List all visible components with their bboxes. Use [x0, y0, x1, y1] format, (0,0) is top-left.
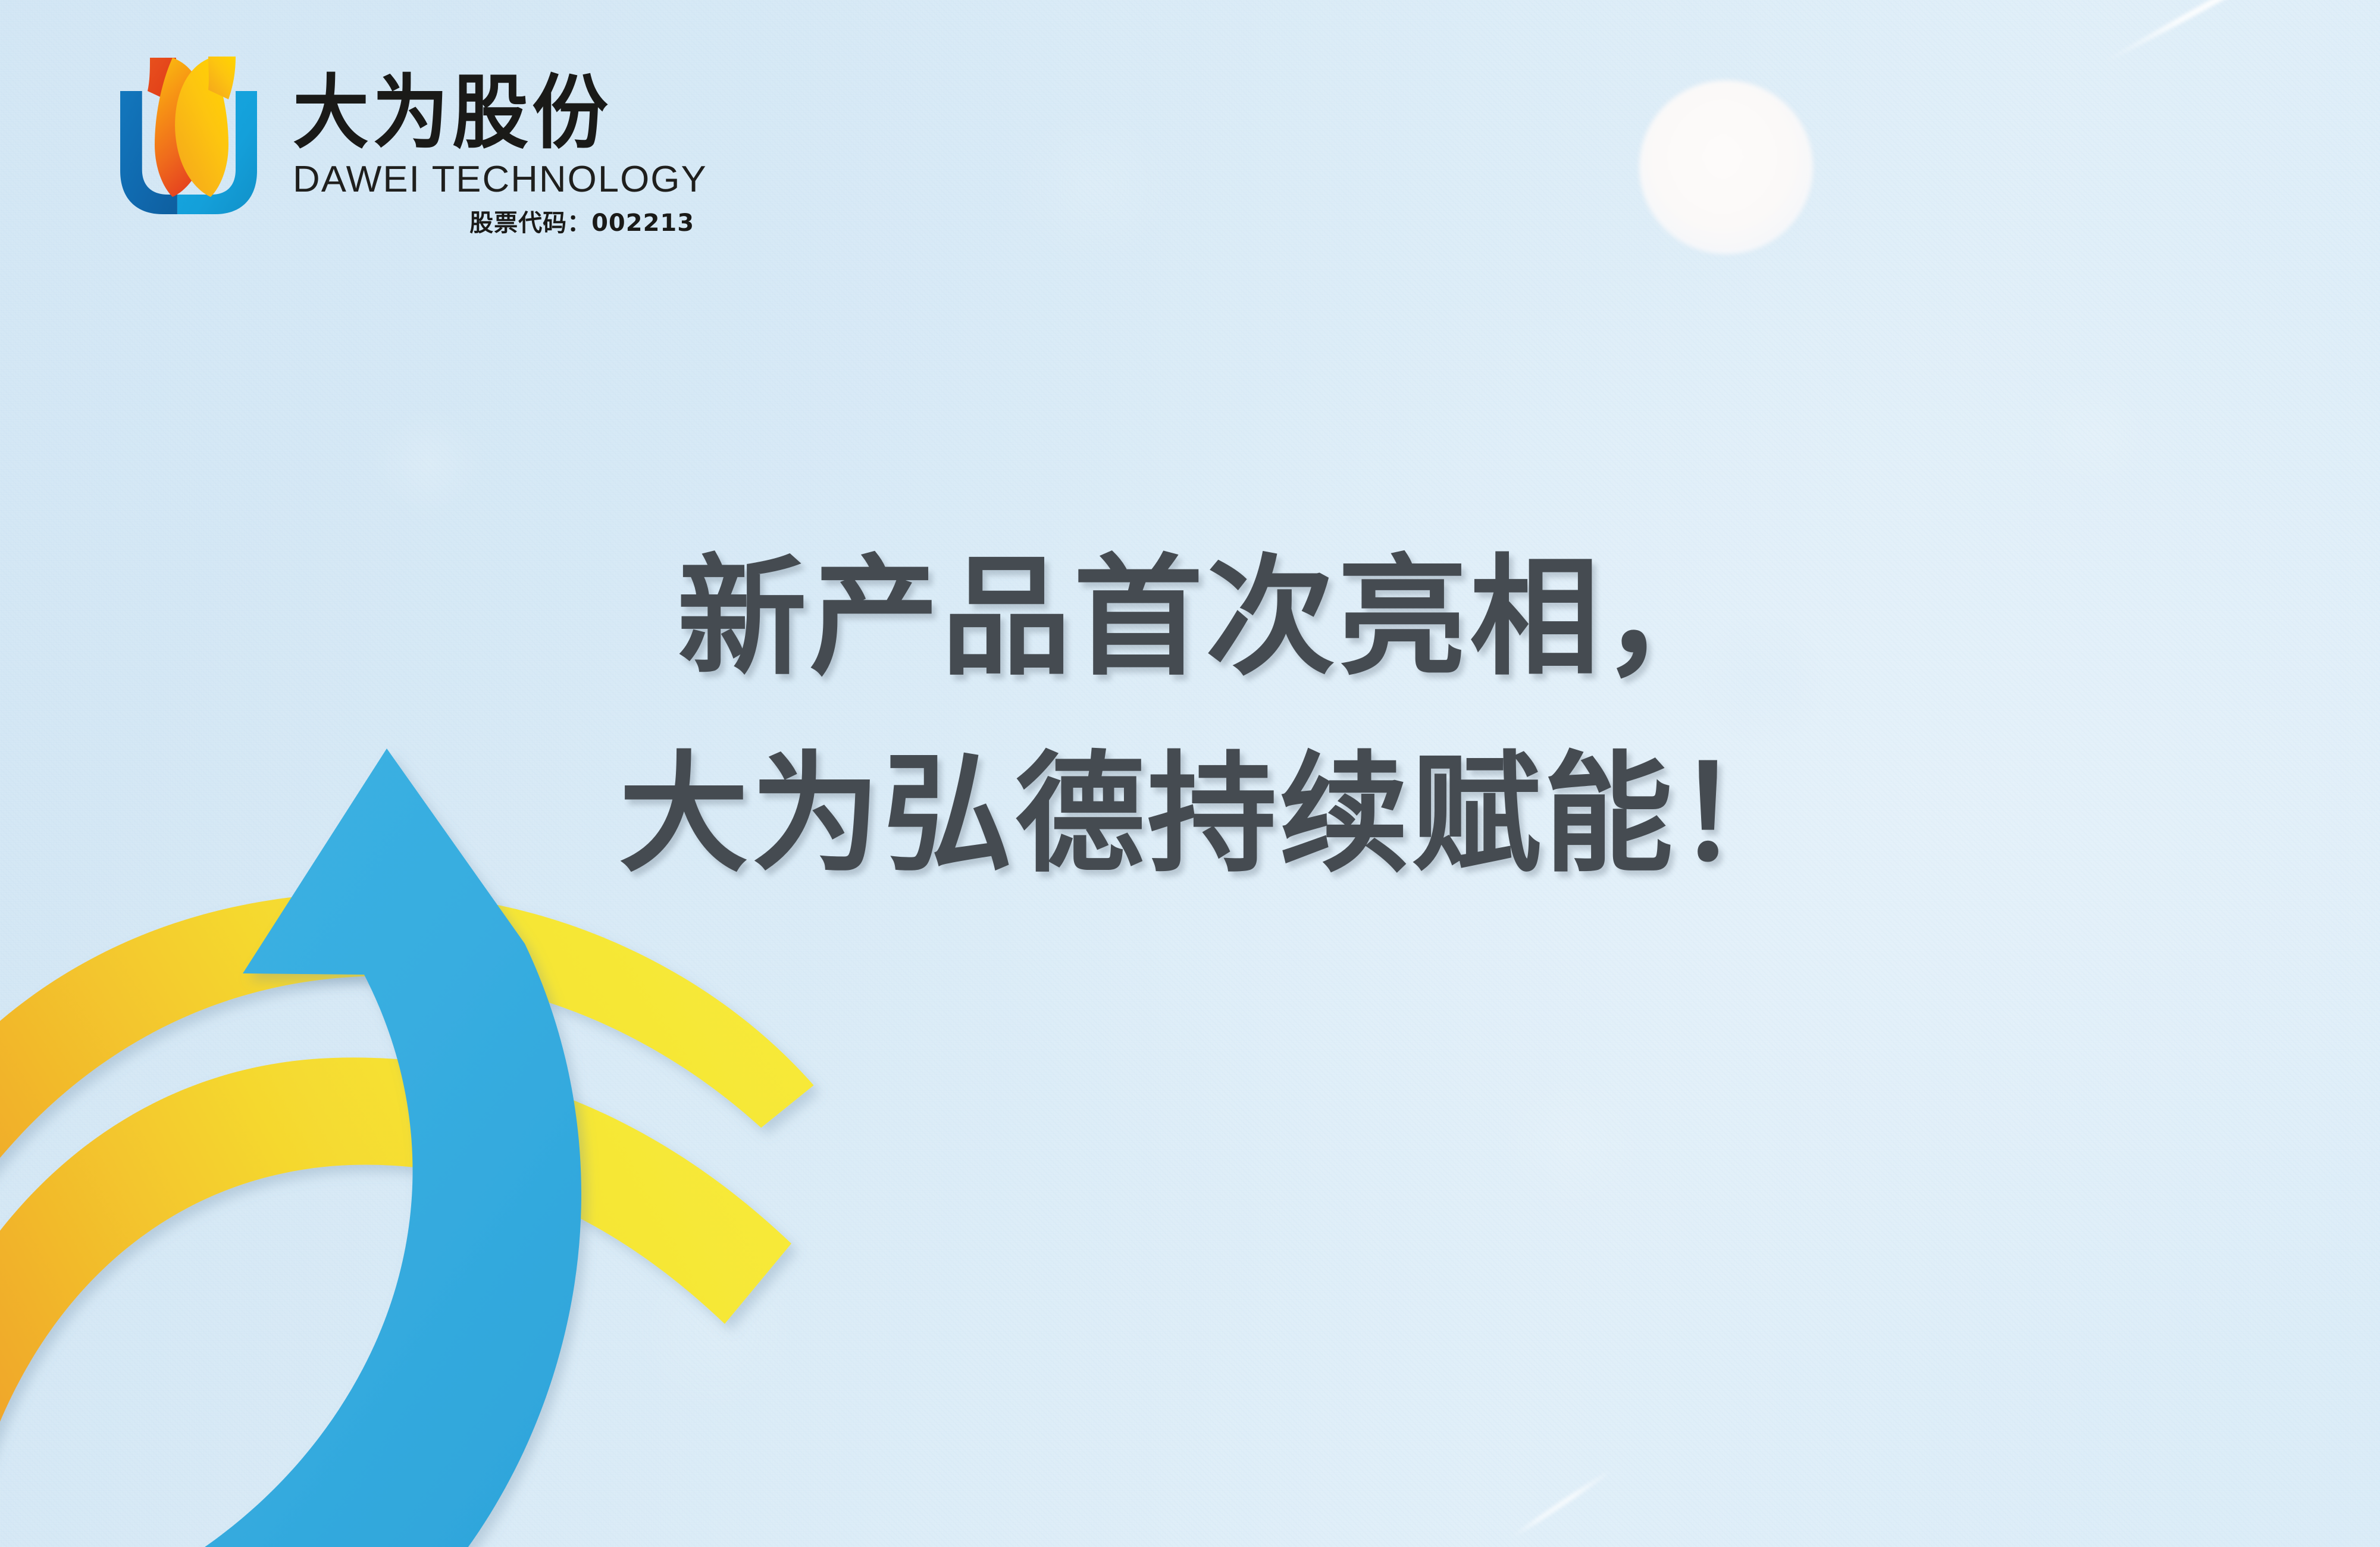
stock-code-label: 股票代码：002213 — [469, 211, 699, 235]
brand-logo[interactable]: 大为股份 DAWEI TECHNOLOGY 股票代码：002213 — [119, 45, 699, 235]
headline-line-2: 大为弘德持续赋能！ — [619, 750, 1916, 880]
brand-name-cn: 大为股份 — [293, 73, 612, 154]
brand-name-en: DAWEI TECHNOLOGY — [293, 161, 707, 198]
soft-white-circle-icon — [1639, 80, 1813, 254]
promo-banner: 大为股份 DAWEI TECHNOLOGY 股票代码：002213 新产品首次亮… — [0, 0, 2380, 1547]
brand-text-block: 大为股份 DAWEI TECHNOLOGY 股票代码：002213 — [293, 45, 699, 235]
dawei-w-emblem-icon — [119, 45, 262, 214]
headline-line-1: 新产品首次亮相， — [619, 553, 1916, 683]
headline-block: 新产品首次亮相， 大为弘德持续赋能！ — [619, 553, 1916, 880]
